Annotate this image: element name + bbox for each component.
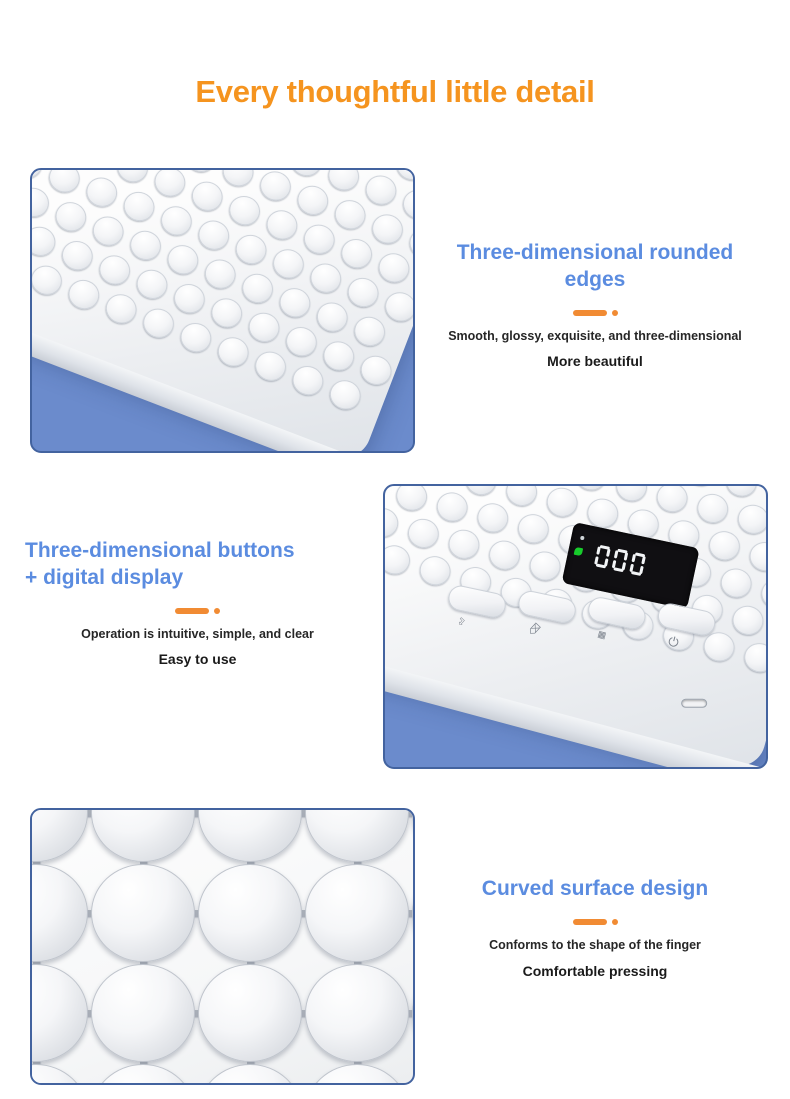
calculator-key[interactable]	[503, 484, 540, 509]
calculator-key[interactable]	[198, 864, 302, 962]
divider-dot-icon	[612, 919, 618, 925]
calculator-key[interactable]	[694, 490, 731, 526]
calculator-key[interactable]	[350, 312, 389, 350]
usb-c-port	[681, 699, 707, 708]
calculator-key[interactable]	[214, 333, 253, 371]
calculator-key[interactable]	[486, 537, 523, 573]
calculator-key[interactable]	[381, 288, 415, 326]
feature-heading: Three-dimensional buttons + digital disp…	[25, 538, 370, 592]
calculator-key[interactable]	[293, 181, 332, 219]
feature-photo-buttons-display: ⏎ ⌫ ▦ ⏻	[383, 484, 768, 769]
calculator-key[interactable]	[319, 337, 358, 375]
calculator-key[interactable]	[412, 1064, 415, 1085]
calculator-key[interactable]	[355, 168, 394, 170]
calculator-key[interactable]	[269, 245, 308, 283]
calculator-key[interactable]	[102, 290, 141, 328]
calculator-key[interactable]	[422, 484, 459, 488]
calculator-key[interactable]	[383, 484, 390, 503]
calculator-key[interactable]	[305, 808, 409, 862]
calculator-key[interactable]	[262, 206, 301, 244]
calculator-key[interactable]	[176, 318, 215, 356]
calculator-key[interactable]	[198, 964, 302, 1062]
calculator-key[interactable]	[82, 173, 121, 211]
calculator-key[interactable]	[181, 168, 220, 176]
feature-text-rounded-edges: Three-dimensional rounded edges Smooth, …	[425, 240, 765, 369]
feature-description: Conforms to the shape of the finger	[425, 937, 765, 954]
divider-dot-icon	[612, 310, 618, 316]
eco-leaf-icon	[574, 547, 583, 556]
calculator-key[interactable]	[515, 511, 552, 547]
calculator-key[interactable]	[219, 168, 258, 191]
calculator-key[interactable]	[572, 484, 609, 494]
calculator-key[interactable]	[763, 484, 768, 511]
display-digit	[611, 548, 628, 572]
calculator-key[interactable]	[91, 964, 195, 1062]
display-digit	[629, 552, 646, 576]
divider-ornament	[25, 608, 370, 614]
calculator-key[interactable]	[313, 298, 352, 336]
divider-ornament	[425, 310, 765, 316]
calculator-key[interactable]	[30, 964, 88, 1062]
calculator-key[interactable]	[89, 212, 128, 250]
feature-description: Smooth, glossy, exquisite, and three-dim…	[425, 328, 765, 345]
feature-photo-curved-surface	[30, 808, 415, 1085]
calculator-key[interactable]	[300, 220, 339, 258]
page-title: Every thoughtful little detail	[0, 74, 790, 110]
calculator-key[interactable]	[305, 1064, 409, 1085]
calculator-key[interactable]	[119, 187, 158, 225]
key-grid	[30, 168, 415, 453]
calculator-key[interactable]	[682, 484, 719, 489]
calculator-key[interactable]	[445, 526, 482, 562]
calculator-key[interactable]	[244, 308, 283, 346]
calculator-key[interactable]	[30, 183, 53, 221]
calculator-key[interactable]	[232, 230, 271, 268]
calculator-key[interactable]	[91, 864, 195, 962]
calculator-key[interactable]	[76, 168, 115, 172]
calculator-key[interactable]	[741, 640, 768, 676]
calculator-key[interactable]	[30, 168, 47, 182]
calculator-key[interactable]	[163, 241, 202, 279]
calculator-key[interactable]	[361, 171, 400, 209]
photo-scene	[32, 170, 413, 451]
calculator-key[interactable]	[157, 202, 196, 240]
calculator-key[interactable]	[383, 542, 413, 578]
display-dot-icon	[580, 536, 585, 541]
calculator-key[interactable]	[45, 168, 84, 197]
calculator-key[interactable]	[393, 484, 430, 514]
calculator-key[interactable]	[405, 224, 415, 262]
calculator-key[interactable]	[30, 222, 60, 260]
calculator-key[interactable]	[723, 484, 760, 500]
calculator-key[interactable]	[288, 361, 327, 399]
calculator-key[interactable]	[746, 539, 768, 575]
feature-tagline: More beautiful	[425, 353, 765, 369]
calculator-key[interactable]	[95, 251, 134, 289]
calculator-key[interactable]	[526, 548, 563, 584]
calculator-key[interactable]	[412, 808, 415, 862]
divider-bar-icon	[175, 608, 209, 614]
calculator-key[interactable]	[256, 168, 295, 205]
calculator-key[interactable]	[383, 505, 402, 541]
calculator-key[interactable]	[324, 168, 363, 195]
calculator-key[interactable]	[653, 484, 690, 515]
calculator-key[interactable]	[251, 347, 290, 385]
calculator-key[interactable]	[132, 265, 171, 303]
key-bridge	[383, 485, 384, 490]
calculator-key[interactable]	[613, 484, 650, 505]
calculator-key[interactable]	[139, 304, 178, 342]
calculator-key[interactable]	[238, 269, 277, 307]
divider-ornament	[425, 919, 765, 925]
calculator-key[interactable]	[718, 565, 755, 601]
calculator-key[interactable]	[287, 168, 326, 180]
feature-text-curved-surface: Curved surface design Conforms to the sh…	[425, 876, 765, 979]
calculator-key[interactable]	[412, 964, 415, 1062]
display-digits	[594, 544, 647, 576]
calculator-key[interactable]	[275, 284, 314, 322]
calculator-key[interactable]	[758, 576, 768, 612]
calculator-key[interactable]	[207, 294, 246, 332]
calculator-key[interactable]	[194, 216, 233, 254]
calculator-key[interactable]	[30, 808, 88, 862]
divider-bar-icon	[573, 919, 607, 925]
calculator-key[interactable]	[30, 261, 66, 299]
calculator-key[interactable]	[91, 808, 195, 862]
feature-description: Operation is intuitive, simple, and clea…	[25, 626, 370, 643]
calculator-key[interactable]	[282, 323, 321, 361]
feature-heading: Three-dimensional rounded edges	[425, 240, 765, 294]
calculator-key[interactable]	[368, 210, 407, 248]
calculator-key[interactable]	[305, 864, 409, 962]
photo-scene	[32, 810, 413, 1083]
calculator-key[interactable]	[392, 168, 415, 184]
calculator-key[interactable]	[305, 964, 409, 1062]
calculator-key[interactable]	[416, 553, 453, 589]
calculator-key[interactable]	[405, 515, 442, 551]
calculator-key[interactable]	[30, 864, 88, 962]
photo-scene: ⏎ ⌫ ▦ ⏻	[385, 486, 766, 767]
calculator-body: ⏎ ⌫ ▦ ⏻	[383, 484, 768, 769]
calculator-key[interactable]	[58, 237, 97, 275]
calculator-key[interactable]	[374, 249, 413, 287]
calculator-key[interactable]	[91, 1064, 195, 1085]
calculator-key[interactable]	[51, 198, 90, 236]
calculator-key[interactable]	[331, 196, 370, 234]
calculator-key[interactable]	[357, 351, 396, 389]
calculator-key[interactable]	[412, 864, 415, 962]
calculator-key[interactable]	[337, 235, 376, 273]
key-surface-macro	[32, 810, 413, 1083]
calculator-key[interactable]	[735, 501, 768, 537]
calculator-key[interactable]	[326, 376, 365, 414]
calculator-key[interactable]	[544, 484, 581, 520]
calculator-key[interactable]	[198, 808, 302, 862]
calculator-key[interactable]	[434, 489, 471, 525]
calculator-key[interactable]	[225, 192, 264, 230]
calculator-key[interactable]	[30, 1064, 88, 1085]
calculator-key[interactable]	[729, 602, 766, 638]
calculator-key[interactable]	[64, 275, 103, 313]
calculator-key[interactable]	[126, 226, 165, 264]
calculator-key[interactable]	[170, 280, 209, 318]
calculator-key[interactable]	[198, 1064, 302, 1085]
calculator-key[interactable]	[344, 273, 383, 311]
feature-text-buttons-display: Three-dimensional buttons + digital disp…	[25, 538, 370, 667]
calculator-key[interactable]	[462, 484, 499, 498]
display-digit	[594, 544, 611, 568]
calculator-key[interactable]	[306, 259, 345, 297]
calculator-body	[30, 168, 415, 453]
feature-heading: Curved surface design	[425, 876, 765, 903]
calculator-key[interactable]	[399, 185, 415, 223]
calculator-key[interactable]	[113, 168, 152, 187]
calculator-key[interactable]	[201, 255, 240, 293]
feature-tagline: Comfortable pressing	[425, 963, 765, 979]
calculator-key[interactable]	[706, 528, 743, 564]
feature-tagline: Easy to use	[25, 651, 370, 667]
calculator-key[interactable]	[150, 168, 189, 201]
calculator-key[interactable]	[474, 500, 511, 536]
divider-dot-icon	[214, 608, 220, 614]
calculator-key[interactable]	[188, 177, 227, 215]
feature-photo-rounded-edges	[30, 168, 415, 453]
divider-bar-icon	[573, 310, 607, 316]
